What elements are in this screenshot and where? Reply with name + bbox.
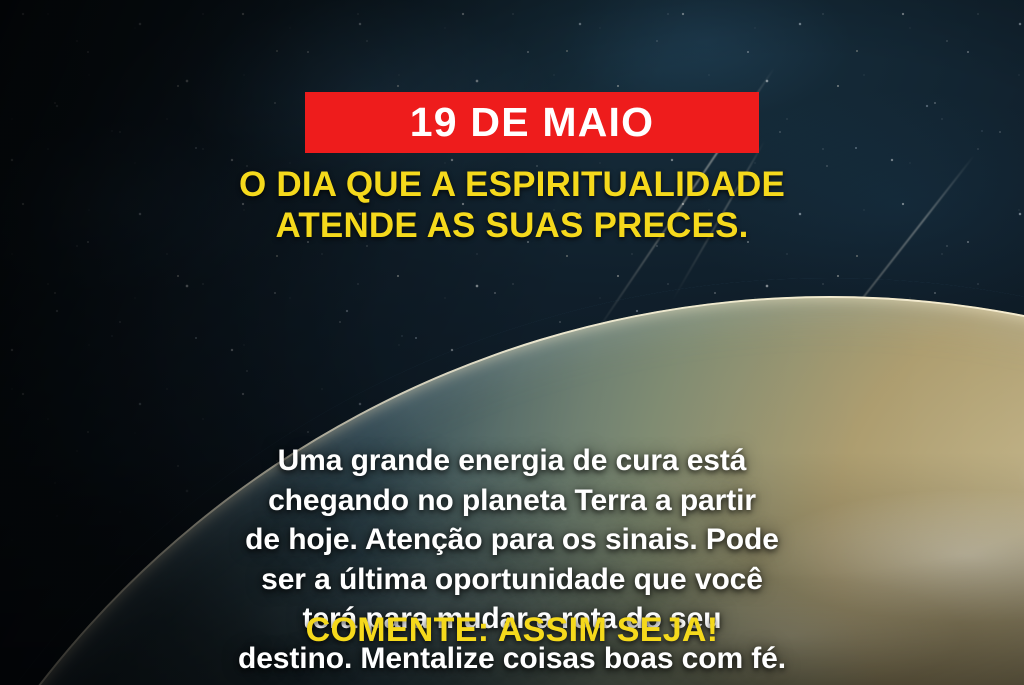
date-banner: 19 DE MAIO [305, 92, 759, 153]
call-to-action: COMENTE: ASSIM SEJA! [0, 612, 1024, 649]
date-banner-label: 19 DE MAIO [410, 102, 654, 143]
headline-line-1: O DIA QUE A ESPIRITUALIDADE [44, 164, 980, 205]
body-line-4: ser a última oportunidade que você [50, 560, 974, 600]
body-line-3: de hoje. Atenção para os sinais. Pode [50, 520, 974, 560]
body-line-2: chegando no planeta Terra a partir [50, 481, 974, 521]
poster-content: 19 DE MAIO O DIA QUE A ESPIRITUALIDADE A… [0, 0, 1024, 685]
call-to-action-label: COMENTE: ASSIM SEJA! [306, 611, 719, 649]
headline-line-2: ATENDE AS SUAS PRECES. [44, 205, 980, 246]
headline: O DIA QUE A ESPIRITUALIDADE ATENDE AS SU… [0, 164, 1024, 247]
poster-canvas: 19 DE MAIO O DIA QUE A ESPIRITUALIDADE A… [0, 0, 1024, 685]
body-line-1: Uma grande energia de cura está [50, 441, 974, 481]
